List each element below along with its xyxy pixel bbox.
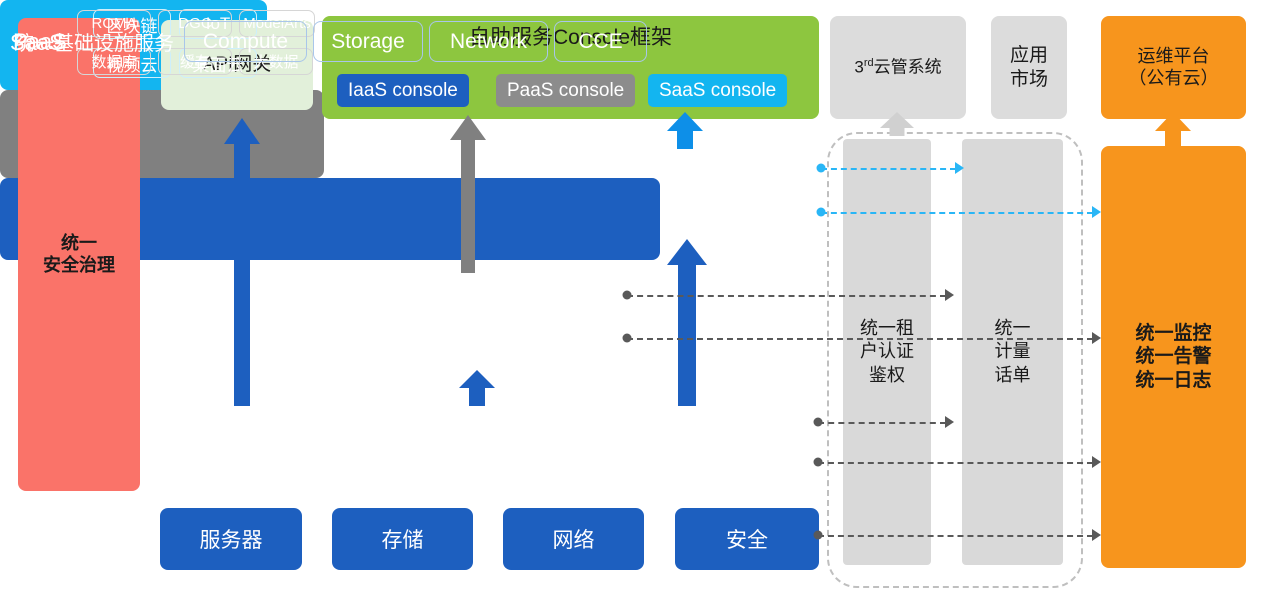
dashed-line-saas-to-ops — [821, 212, 1093, 214]
arrow-saas-to-saas-console — [667, 112, 703, 149]
third-party-cloud-mgmt-box: 3rd云管系统 — [830, 16, 966, 119]
arrow-infra-to-saas — [667, 239, 707, 406]
resource-box-server: 服务器 — [160, 508, 302, 570]
infra-chip-cce[interactable]: CCE — [554, 21, 647, 62]
saas-console-chip[interactable]: SaaS console — [648, 74, 787, 107]
infra-bar-label: 统一基础设施服务 — [14, 27, 174, 56]
arrowhead-infra-to-metering — [945, 416, 954, 428]
dashed-line-paas-to-auth — [627, 295, 946, 297]
infra-chip-storage[interactable]: Storage — [313, 21, 423, 62]
arrow-infra-to-paas — [459, 370, 495, 406]
infra-chip-network[interactable]: Network — [429, 21, 548, 62]
iaas-console-chip[interactable]: IaaS console — [337, 74, 469, 107]
dashed-line-infra-to-metering — [818, 422, 946, 424]
arrow-infra-to-api-gateway — [224, 118, 260, 406]
third-party-label: 3rd云管系统 — [854, 57, 941, 78]
unified-security-governance-panel: 统一 安全治理 — [18, 18, 140, 491]
arrowhead-saas-to-ops — [1092, 206, 1101, 218]
dashed-line-resources-to-ops — [818, 535, 1093, 537]
arrow-platform-to-third-party — [880, 112, 914, 136]
arrow-ops-body-to-ops-top — [1155, 112, 1191, 148]
resource-box-storage: 存储 — [332, 508, 473, 570]
ops-platform-public-cloud-box: 运维平台 （公有云） — [1101, 16, 1246, 119]
dashed-line-infra-to-ops — [818, 462, 1093, 464]
dashed-line-saas-to-auth — [821, 168, 956, 170]
resource-box-security: 安全 — [675, 508, 819, 570]
arrow-paas-to-paas-console — [450, 115, 486, 273]
app-market-box: 应用 市场 — [991, 16, 1067, 119]
unified-monitoring-alarm-log-panel: 统一监控 统一告警 统一日志 — [1101, 146, 1246, 568]
resource-box-network: 网络 — [503, 508, 644, 570]
infra-chip-compute[interactable]: Compute — [184, 21, 307, 62]
dashed-line-paas-to-ops — [627, 338, 1093, 340]
architecture-diagram-canvas: 统一 安全治理 API网关 自助服务Console框架 IaaS console… — [0, 0, 1265, 605]
arrowhead-saas-to-auth — [955, 162, 964, 174]
arrowhead-resources-to-ops — [1092, 529, 1101, 541]
arrowhead-paas-to-auth — [945, 289, 954, 301]
unified-tenant-auth-column: 统一租 户认证 鉴权 — [843, 139, 931, 565]
arrowhead-infra-to-ops — [1092, 456, 1101, 468]
paas-console-chip[interactable]: PaaS console — [496, 74, 635, 107]
arrowhead-paas-to-ops — [1092, 332, 1101, 344]
unified-metering-billing-column: 统一 计量 话单 — [962, 139, 1063, 565]
